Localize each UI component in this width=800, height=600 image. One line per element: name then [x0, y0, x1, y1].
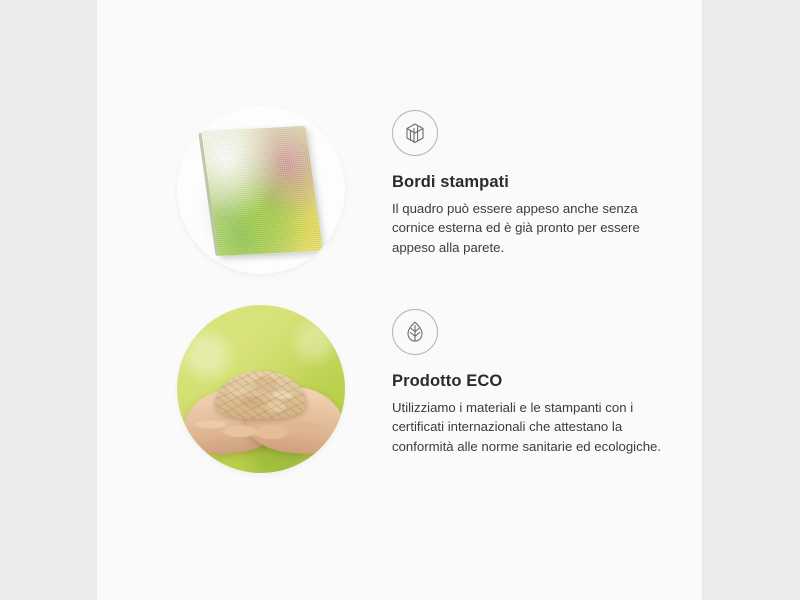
feature-title: Prodotto ECO — [392, 372, 664, 391]
feature-title: Bordi stampati — [392, 173, 664, 192]
printed-edges-icon — [392, 110, 438, 156]
product-info-page: Bordi stampati Il quadro può essere appe… — [0, 0, 800, 600]
fingers — [195, 401, 327, 453]
feature-description: Utilizziamo i materiali e le stampanti c… — [392, 398, 664, 456]
content-panel: Bordi stampati Il quadro può essere appe… — [97, 0, 702, 600]
feature-text-block: Bordi stampati Il quadro può essere appe… — [392, 106, 664, 257]
right-background-band — [702, 0, 800, 600]
hands-with-wood-chips-photo — [177, 305, 345, 473]
feature-text-block: Prodotto ECO Utilizziamo i materiali e l… — [392, 305, 664, 456]
feature-printed-edges: Bordi stampati Il quadro può essere appe… — [177, 106, 664, 274]
feature-description: Il quadro può essere appeso anche senza … — [392, 199, 664, 257]
canvas-artwork-surface — [201, 126, 323, 256]
feature-eco-product: Prodotto ECO Utilizziamo i materiali e l… — [177, 305, 664, 473]
canvas-print-corner-photo — [177, 106, 345, 274]
leaf-icon — [392, 309, 438, 355]
left-background-band — [0, 0, 97, 600]
